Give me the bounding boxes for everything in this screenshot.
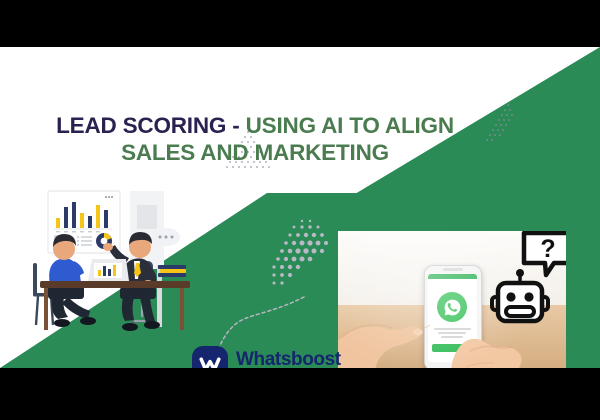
title-line-2: SALES AND MARKETING <box>0 140 510 167</box>
title-line-1: LEAD SCORING - USING AI TO ALIGN <box>0 113 510 140</box>
speech-dots-bubble <box>152 228 180 249</box>
page-title: LEAD SCORING - USING AI TO ALIGN SALES A… <box>0 113 510 166</box>
phone-notch <box>443 268 463 271</box>
question-bubble-icon: ? <box>520 231 566 281</box>
whatsboost-w-icon <box>192 346 228 368</box>
laptop <box>88 259 129 281</box>
logo-name: Whatsboost <box>236 350 341 368</box>
title-line-1-navy: LEAD SCORING <box>56 113 226 138</box>
letterbox-bar-top <box>0 0 600 47</box>
business-meeting-illustration <box>30 185 210 337</box>
whatsapp-photo: ? <box>336 229 568 368</box>
whatsboost-logo[interactable]: Whatsboost BOOST YOUR BUSINESS <box>192 343 352 368</box>
logo-text: Whatsboost BOOST YOUR BUSINESS <box>236 350 341 368</box>
banner-image: LEAD SCORING - USING AI TO ALIGN SALES A… <box>0 0 600 420</box>
whatsapp-topbar <box>428 274 477 279</box>
banner-canvas: LEAD SCORING - USING AI TO ALIGN SALES A… <box>0 47 600 368</box>
letterbox-bar-bottom <box>0 368 600 420</box>
pointing-hand <box>338 283 446 368</box>
photo-inner: ? <box>338 231 566 368</box>
title-line-1-green: USING AI TO ALIGN <box>246 113 454 138</box>
title-separator: - <box>226 113 245 138</box>
svg-text:?: ? <box>540 235 555 263</box>
stack-of-books <box>158 265 186 277</box>
